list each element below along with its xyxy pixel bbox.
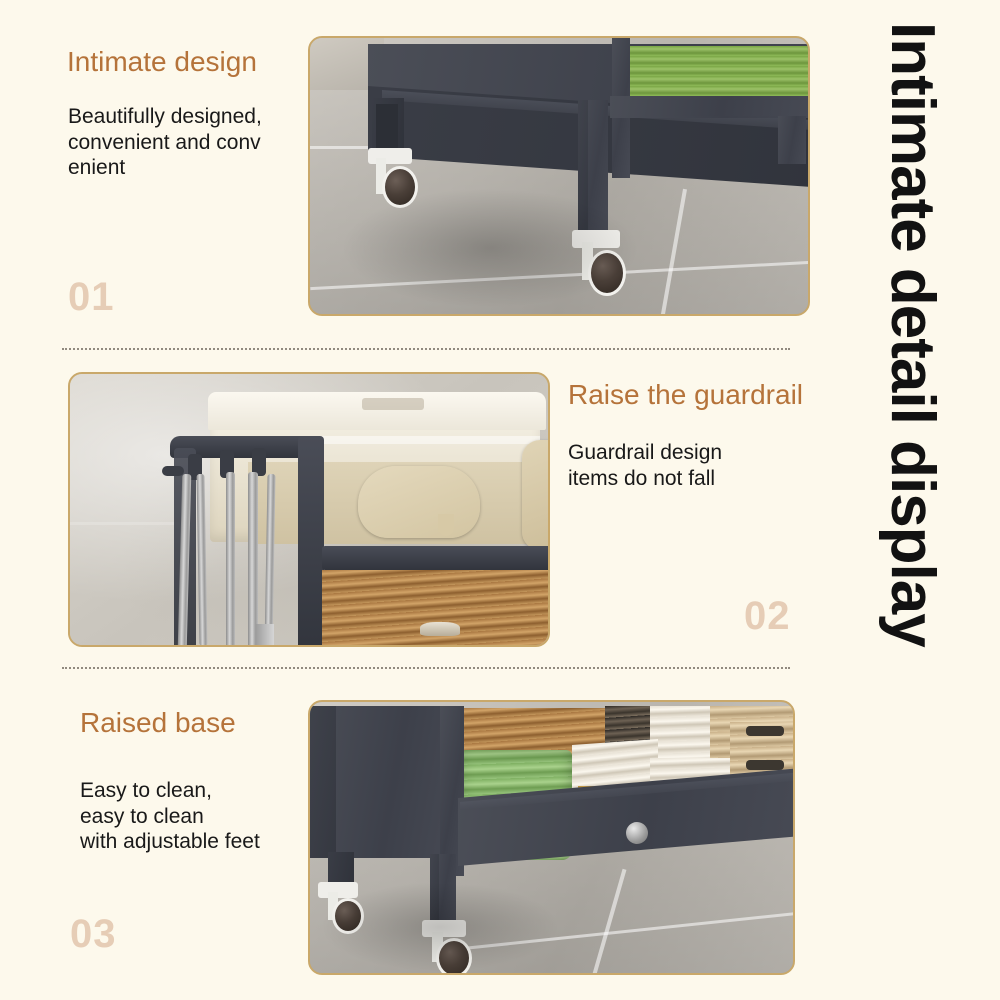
feature-section-01: Intimate design Beautifully designed, co… — [62, 42, 302, 322]
feature-section-02: Raise the guardrail Guardrail design ite… — [566, 378, 816, 648]
feature-image-03 — [308, 700, 795, 975]
feature-image-02 — [68, 372, 550, 647]
feature-number-03: 03 — [70, 914, 117, 954]
feature-title-02: Raise the guardrail — [568, 380, 803, 411]
section-divider-2 — [62, 667, 790, 669]
page-headline: Intimate detail display — [852, 22, 972, 972]
page-headline-text: Intimate detail display — [881, 22, 943, 647]
feature-description-01: Beautifully designed, convenient and con… — [68, 104, 304, 181]
feature-title-01: Intimate design — [67, 47, 257, 78]
feature-description-02: Guardrail design items do not fall — [568, 440, 814, 491]
feature-number-01: 01 — [68, 277, 115, 317]
product-detail-page: Intimate detail display Intimate design … — [0, 0, 1000, 1000]
feature-description-03: Easy to clean, easy to clean with adjust… — [80, 778, 324, 855]
section-divider-1 — [62, 348, 790, 350]
feature-title-03: Raised base — [80, 708, 236, 739]
feature-image-01 — [308, 36, 810, 316]
feature-number-02: 02 — [744, 596, 791, 636]
feature-section-03: Raised base Easy to clean, easy to clean… — [62, 706, 322, 986]
